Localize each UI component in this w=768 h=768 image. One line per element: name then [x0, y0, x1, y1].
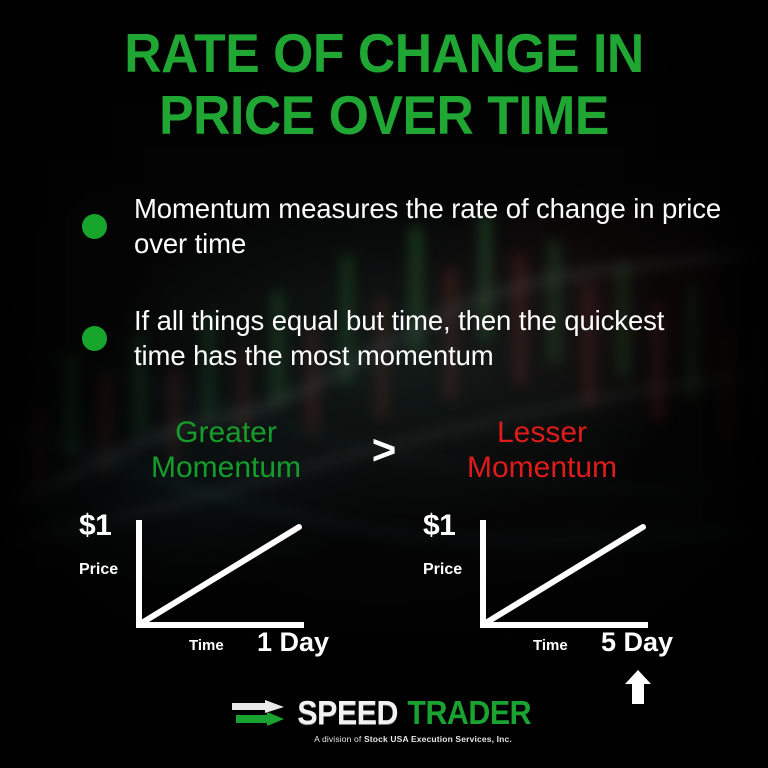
greater-than-operator-icon: >	[341, 429, 427, 471]
lesser-momentum-line-1: Lesser	[427, 415, 657, 450]
greater-momentum-label: Greater Momentum	[111, 415, 341, 485]
page-title: RATE OF CHANGE IN PRICE OVER TIME	[0, 22, 768, 146]
chart-five-day: $1 Price Time 5 Day	[415, 505, 697, 680]
title-line-2: PRICE OVER TIME	[23, 84, 745, 146]
infographic-poster: RATE OF CHANGE IN PRICE OVER TIME Moment…	[0, 0, 768, 768]
chart-x-axis-label: Time	[189, 637, 224, 654]
lesser-momentum-label: Lesser Momentum	[427, 415, 657, 485]
chart-one-day: $1 Price Time 1 Day	[71, 505, 353, 680]
speedtrader-arrow-icon	[232, 700, 284, 726]
bullet-text: Momentum measures the rate of change in …	[134, 192, 722, 262]
list-item: If all things equal but time, then the q…	[82, 304, 722, 374]
logo-text-trader: TRADER	[407, 694, 531, 732]
list-item: Momentum measures the rate of change in …	[82, 192, 722, 262]
logo-text-speed: SPEED	[297, 694, 398, 732]
brand-logo: SPEED TRADER A division of Stock USA Exe…	[0, 694, 768, 744]
bullet-dot-icon	[82, 214, 107, 239]
lesser-momentum-line-2: Momentum	[427, 450, 657, 485]
poster-content: RATE OF CHANGE IN PRICE OVER TIME Moment…	[0, 0, 768, 768]
logo-wordmark: SPEED TRADER	[232, 694, 537, 732]
bullet-list: Momentum measures the rate of change in …	[82, 192, 722, 416]
chart-x-axis-label: Time	[533, 637, 568, 654]
chart-trend-line	[484, 527, 643, 624]
greater-momentum-line-2: Momentum	[111, 450, 341, 485]
chart-trend-line	[140, 527, 299, 624]
chart-period-label: 1 Day	[257, 627, 329, 658]
logo-tagline-company: Stock USA Execution Services, Inc.	[364, 734, 512, 744]
chart-pair: $1 Price Time 1 Day $1 Price Time 5 Day	[0, 505, 768, 680]
greater-momentum-line-1: Greater	[111, 415, 341, 450]
title-line-1: RATE OF CHANGE IN	[23, 22, 745, 84]
logo-tagline: A division of Stock USA Execution Servic…	[314, 734, 512, 744]
logo-tagline-prefix: A division of	[314, 734, 364, 744]
bullet-dot-icon	[82, 326, 107, 351]
bullet-text: If all things equal but time, then the q…	[134, 304, 722, 374]
momentum-comparison: Greater Momentum > Lesser Momentum	[0, 415, 768, 485]
chart-period-label: 5 Day	[601, 627, 673, 658]
